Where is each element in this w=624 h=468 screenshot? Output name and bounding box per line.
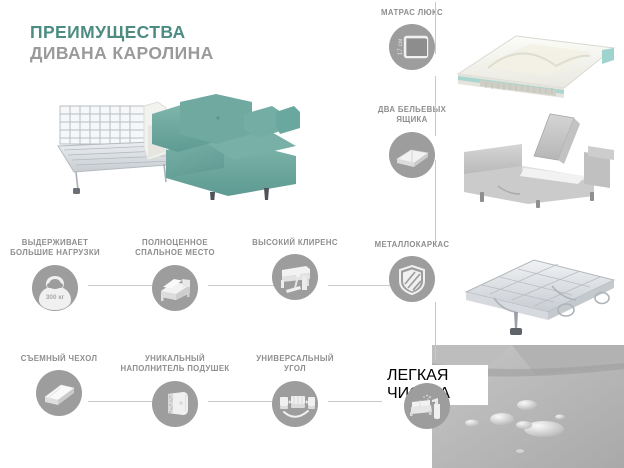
connector-vertical-right [435,2,436,54]
feature-label: ДВА БЕЛЬЕВЫХ ЯЩИКА [352,105,472,126]
feature-label: СЪЕМНЫЙ ЧЕХОЛ [0,354,119,364]
feature-label: ПОЛНОЦЕННОЕ СПАЛЬНОЕ МЕСТО [115,238,235,259]
feature-label: УНИВЕРСАЛЬНЫЙ УГОЛ [235,354,355,375]
bed-icon [152,265,198,311]
connector-vertical-right-3 [435,160,436,244]
removable-cover-icon [36,370,82,416]
feature-unikalnyy-napolnitel[interactable]: УНИКАЛЬНЫЙ НАПОЛНИТЕЛЬ ПОДУШЕК [115,354,235,427]
modular-corner-icon [272,381,318,427]
feature-metallokarkas[interactable]: МЕТАЛЛОКАРКАС [352,240,472,302]
title-line-1: ПРЕИМУЩЕСТВА [30,22,214,43]
svg-text:17 см: 17 см [397,38,404,55]
feature-vysokiy-klirens[interactable]: ВЫСОКИЙ КЛИРЕНС [235,238,355,300]
svg-text:300 кг: 300 кг [46,294,65,301]
infographic-root: ПРЕИМУЩЕСТВА ДИВАНА КАРОЛИНА [0,0,624,468]
feature-label: ВЫСОКИЙ КЛИРЕНС [235,238,355,248]
shield-icon [389,256,435,302]
feature-universalnyy-ugol[interactable]: УНИВЕРСАЛЬНЫЙ УГОЛ [235,354,355,427]
storage-box-icon [389,132,435,178]
sofa-vacuum-icon [272,254,318,300]
feature-dva-belevyh-yashchika[interactable]: ДВА БЕЛЬЕВЫХ ЯЩИКА [352,105,472,178]
kettlebell-icon: 300 кг [32,265,78,311]
feature-matras-lux[interactable]: МАТРАС ЛЮКС 17 см [352,8,472,70]
feature-syemnyy-chehol[interactable]: СЪЕМНЫЙ ЧЕХОЛ [0,354,119,416]
mattress-thickness-icon: 17 см [389,24,435,70]
connector-vertical-right-4 [435,302,436,360]
sofa-karolina-open-photo [28,72,300,200]
sofa-spray-icon[interactable] [404,383,450,429]
connector-vertical-right-2 [435,76,436,136]
sofa-storage-open-photo [458,112,620,208]
water-drops-fabric-photo [432,345,624,468]
feature-label: МАТРАС ЛЮКС [352,8,472,18]
title-line-2: ДИВАНА КАРОЛИНА [30,43,214,64]
pillow-filling-icon [152,381,198,427]
mattress-cutaway-photo [452,22,620,104]
feature-label: УНИКАЛЬНЫЙ НАПОЛНИТЕЛЬ ПОДУШЕК [115,354,235,375]
feature-vyderzhivaet-nagruzki[interactable]: ВЫДЕРЖИВАЕТ БОЛЬШИЕ НАГРУЗКИ 300 кг [0,238,115,311]
feature-polnocennoe-spalnoe-mesto[interactable]: ПОЛНОЦЕННОЕ СПАЛЬНОЕ МЕСТО [115,238,235,311]
page-title: ПРЕИМУЩЕСТВА ДИВАНА КАРОЛИНА [30,22,214,65]
metal-frame-photo [456,250,620,338]
feature-label: ВЫДЕРЖИВАЕТ БОЛЬШИЕ НАГРУЗКИ [0,238,115,259]
feature-label: МЕТАЛЛОКАРКАС [352,240,472,250]
